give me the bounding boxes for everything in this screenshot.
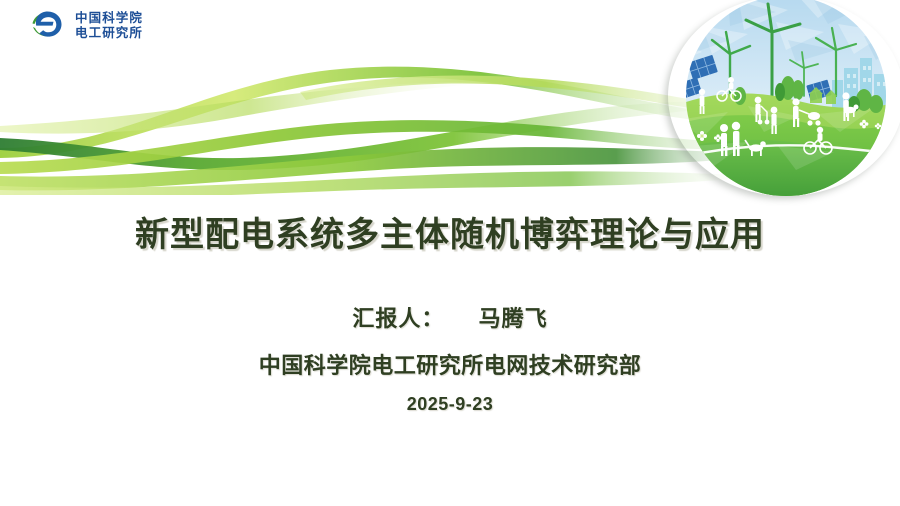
logo-line-2: 电工研究所 [75,26,143,41]
page-title: 新型配电系统多主体随机博弈理论与应用 [0,214,900,257]
institute-logo: 中国科学院 电工研究所 [27,7,143,45]
presentation-title-slide: 中国科学院 电工研究所 [0,0,900,506]
logo-line-1: 中国科学院 [75,11,143,26]
title-block: 新型配电系统多主体随机博弈理论与应用 汇报人： 马腾飞 中国科学院电工研究所电网… [0,214,900,415]
presenter-label: 汇报人： [352,306,444,331]
affiliation-line: 中国科学院电工研究所电网技术研究部 [0,348,900,380]
green-energy-city-circle [668,0,900,196]
institute-logo-text: 中国科学院 电工研究所 [75,11,143,41]
date-line: 2025-9-23 [0,394,900,415]
presenter-name: 马腾飞 [479,306,548,331]
presenter-line: 汇报人： 马腾飞 [0,301,900,333]
cas-iee-emblem-icon [27,7,67,45]
